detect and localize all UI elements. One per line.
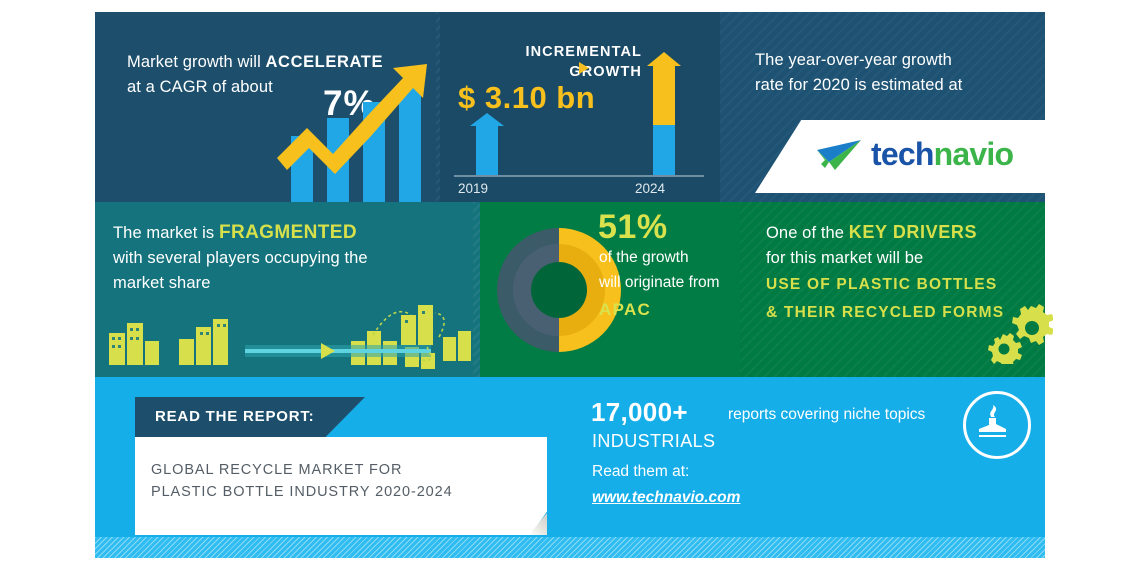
bar-2019 <box>476 125 498 175</box>
panel-key-drivers: One of the KEY DRIVERS for this market w… <box>740 202 1045 377</box>
bar-2024-upper <box>653 65 675 125</box>
axis-label-2024: 2024 <box>635 181 665 196</box>
cagr-line1-plain: Market growth will <box>127 53 266 71</box>
infographic-canvas: Market growth will ACCELERATE at a CAGR … <box>0 0 1140 570</box>
divider-mid-1 <box>473 202 480 377</box>
logo-text: technavio <box>871 136 1013 173</box>
read-them-at-label: Read them at: <box>592 463 689 481</box>
drivers-line1-plain: One of the <box>766 224 849 242</box>
reports-count: 17,000+ <box>591 397 688 428</box>
fragmented-illustration <box>105 297 475 375</box>
bar-2024-lower <box>653 125 675 175</box>
apac-percent: 51% <box>598 208 668 247</box>
fragmented-text: The market is FRAGMENTED with several pl… <box>113 220 473 296</box>
report-title-line2: PLASTIC BOTTLE INDUSTRY 2020-2024 <box>151 484 453 500</box>
cagr-chart <box>275 40 440 202</box>
axis-line <box>454 175 704 177</box>
technavio-url-link[interactable]: www.technavio.com <box>592 489 740 507</box>
drivers-line3: USE OF PLASTIC BOTTLES <box>766 276 997 293</box>
drivers-line2: for this market will be <box>766 249 923 267</box>
play-triangle-icon <box>579 62 589 74</box>
panel-cagr: Market growth will ACCELERATE at a CAGR … <box>95 12 440 202</box>
yoy-line2: rate for 2020 is estimated at <box>755 76 962 94</box>
incremental-title: INCREMENTAL GROWTH <box>462 42 642 82</box>
industrials-factory-icon <box>963 391 1031 459</box>
axis-label-2019: 2019 <box>458 181 488 196</box>
panel-incremental-growth: INCREMENTAL GROWTH $ 3.10 bn 2019 2024 <box>440 12 720 202</box>
reports-caption: reports covering niche topics <box>728 406 925 424</box>
cagr-bars-and-arrow <box>275 40 440 202</box>
incremental-value: $ 3.10 bn <box>458 80 595 116</box>
logo-inner: technavio <box>813 134 1013 174</box>
infographic: Market growth will ACCELERATE at a CAGR … <box>95 12 1045 558</box>
panel-fragmented: The market is FRAGMENTED with several pl… <box>95 202 480 377</box>
report-card[interactable]: GLOBAL RECYCLE MARKET FOR PLASTIC BOTTLE… <box>135 437 547 535</box>
city-buildings-icon <box>105 297 475 375</box>
report-title-line1: GLOBAL RECYCLE MARKET FOR <box>151 462 402 478</box>
apac-region: APAC <box>599 300 651 320</box>
yoy-text: The year-over-year growth rate for 2020 … <box>755 48 1025 98</box>
panel-apac: 51% of the growth will originate from AP… <box>480 202 740 377</box>
row-middle: The market is FRAGMENTED with several pl… <box>95 202 1045 377</box>
apac-line2: will originate from <box>599 274 720 292</box>
report-category: INDUSTRIALS <box>592 431 715 452</box>
footer: READ THE REPORT: GLOBAL RECYCLE MARKET F… <box>95 377 1045 558</box>
cagr-line2: at a CAGR of about <box>127 78 273 96</box>
fragmented-line1-plain: The market is <box>113 224 219 242</box>
logo-text-tech: tech <box>871 136 934 172</box>
paper-plane-icon <box>813 134 865 174</box>
fragmented-line1-bold: FRAGMENTED <box>219 222 357 243</box>
read-the-report-label: READ THE REPORT: <box>155 408 314 425</box>
gears-icon <box>985 302 1053 364</box>
read-the-report-banner: READ THE REPORT: <box>135 397 365 439</box>
fragmented-line2: with several players occupying the <box>113 249 368 267</box>
yoy-line1: The year-over-year growth <box>755 51 952 69</box>
incremental-title-line1: INCREMENTAL <box>525 44 642 60</box>
drivers-line4: & THEIR RECYCLED FORMS <box>766 304 1004 321</box>
footer-hatch-strip <box>95 537 1045 558</box>
drivers-line1-bold: KEY DRIVERS <box>849 222 977 242</box>
fragmented-line3: market share <box>113 274 211 292</box>
logo-text-navio: navio <box>934 136 1014 172</box>
technavio-logo: technavio <box>755 120 1085 193</box>
apac-line1: of the growth <box>599 249 689 267</box>
report-title: GLOBAL RECYCLE MARKET FOR PLASTIC BOTTLE… <box>151 459 453 503</box>
